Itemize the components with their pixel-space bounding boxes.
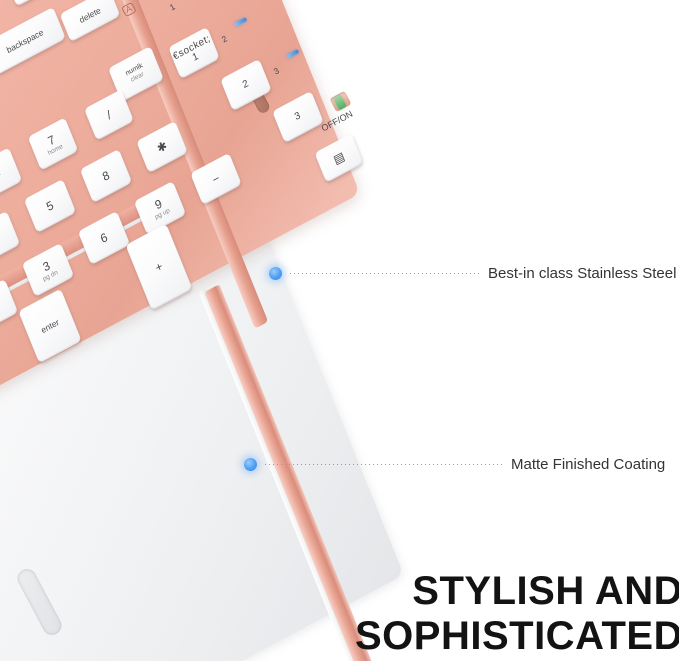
annotation-dot-icon xyxy=(244,458,257,471)
annotation-leader-line xyxy=(290,273,480,274)
product-marketing-image: A F12 delete backspace numlk clear €sock… xyxy=(0,0,679,661)
headline-line-2: SOPHISTICATED xyxy=(355,614,679,659)
annotation-dot-icon xyxy=(269,267,282,280)
key-label: / xyxy=(105,109,112,122)
key-label: 4 xyxy=(0,167,2,181)
annotation-stainless-steel: Best-in class Stainless Steel xyxy=(269,265,676,282)
key-label: 3 xyxy=(293,111,302,123)
annotation-label: Matte Finished Coating xyxy=(511,456,665,473)
key-label: − xyxy=(211,172,222,186)
keyboard-product-photo: A F12 delete backspace numlk clear €sock… xyxy=(0,0,480,661)
marketing-headline: STYLISH AND SOPHISTICATED xyxy=(355,569,679,659)
annotation-matte-coating: Matte Finished Coating xyxy=(244,456,665,473)
calculator-icon: ▤ xyxy=(332,150,347,167)
headline-line-1: STYLISH AND xyxy=(355,569,679,614)
key-label: 6 xyxy=(99,231,109,245)
key-label: delete xyxy=(78,6,102,25)
key-label: 8 xyxy=(101,169,111,183)
key-label: 2 xyxy=(241,79,250,91)
key-label: enter xyxy=(40,317,60,334)
key-label: 5 xyxy=(45,199,55,213)
key-label: ✱ xyxy=(155,139,168,155)
key-label: 1 xyxy=(191,52,200,64)
annotation-label: Best-in class Stainless Steel xyxy=(488,265,676,282)
key-label: + xyxy=(154,260,165,274)
key-label: backspace xyxy=(5,28,44,55)
annotation-leader-line xyxy=(265,464,503,465)
